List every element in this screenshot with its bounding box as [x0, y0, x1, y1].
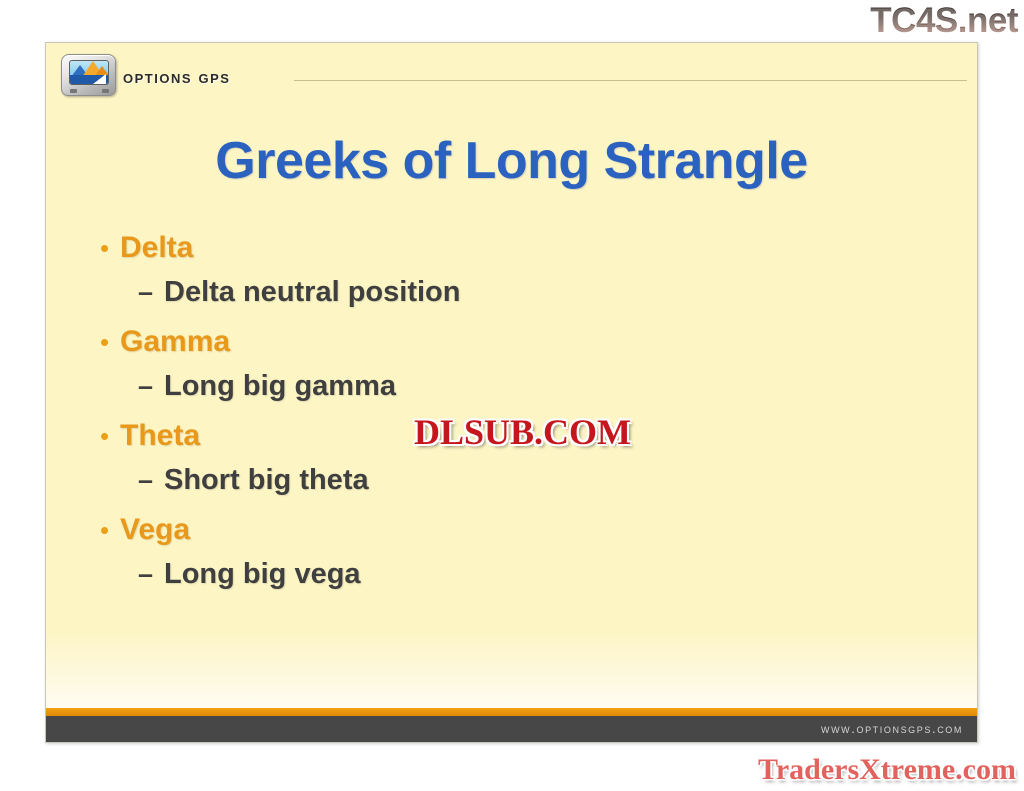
bullet-item-delta: • Delta: [94, 228, 957, 268]
dash-icon: –: [138, 458, 164, 502]
device-button-left: [70, 89, 77, 93]
bullet-label: Gamma: [120, 322, 230, 362]
gps-device-screen: [69, 60, 109, 85]
bullet-item-gamma: • Gamma: [94, 322, 957, 362]
bullet-label: Delta: [120, 228, 193, 268]
footer-url-label: www.OptionsGPS.com: [821, 721, 963, 736]
slide-footer: www.OptionsGPS.com: [46, 716, 977, 742]
bullet-label: Theta: [120, 416, 200, 456]
dash-icon: –: [138, 364, 164, 408]
subbullet-item-long-big-vega: – Long big vega: [138, 552, 957, 596]
bullet-dot-icon: •: [94, 322, 120, 362]
presentation-slide: Options GPS Greeks of Long Strangle • De…: [45, 42, 978, 743]
dash-icon: –: [138, 552, 164, 596]
bullet-label: Vega: [120, 510, 190, 550]
subbullet-item-long-big-gamma: – Long big gamma: [138, 364, 957, 408]
header-divider: [294, 80, 967, 81]
device-button-right: [102, 89, 109, 93]
road-shape: [89, 74, 106, 84]
subbullet-label: Short big theta: [164, 458, 369, 502]
subbullet-label: Long big vega: [164, 552, 361, 596]
bullet-dot-icon: •: [94, 510, 120, 550]
bullet-dot-icon: •: [94, 228, 120, 268]
gps-device-icon: [61, 54, 116, 96]
site-brand-tc4s: TC4S.net: [870, 1, 1018, 41]
dash-icon: –: [138, 270, 164, 314]
footer-accent-bar: [46, 708, 977, 716]
slide-title: Greeks of Long Strangle: [46, 131, 977, 191]
bullet-dot-icon: •: [94, 416, 120, 456]
subbullet-item-short-big-theta: – Short big theta: [138, 458, 957, 502]
watermark-dlsub: DLSUB.COM: [414, 411, 631, 453]
slide-header: Options GPS: [46, 43, 977, 105]
brand-wordmark: Options GPS: [123, 67, 230, 88]
subbullet-label: Delta neutral position: [164, 270, 460, 314]
subbullet-item-delta-neutral: – Delta neutral position: [138, 270, 957, 314]
bullet-item-vega: • Vega: [94, 510, 957, 550]
watermark-tradersxtreme: TradersXtreme.com: [758, 753, 1016, 787]
subbullet-label: Long big gamma: [164, 364, 396, 408]
